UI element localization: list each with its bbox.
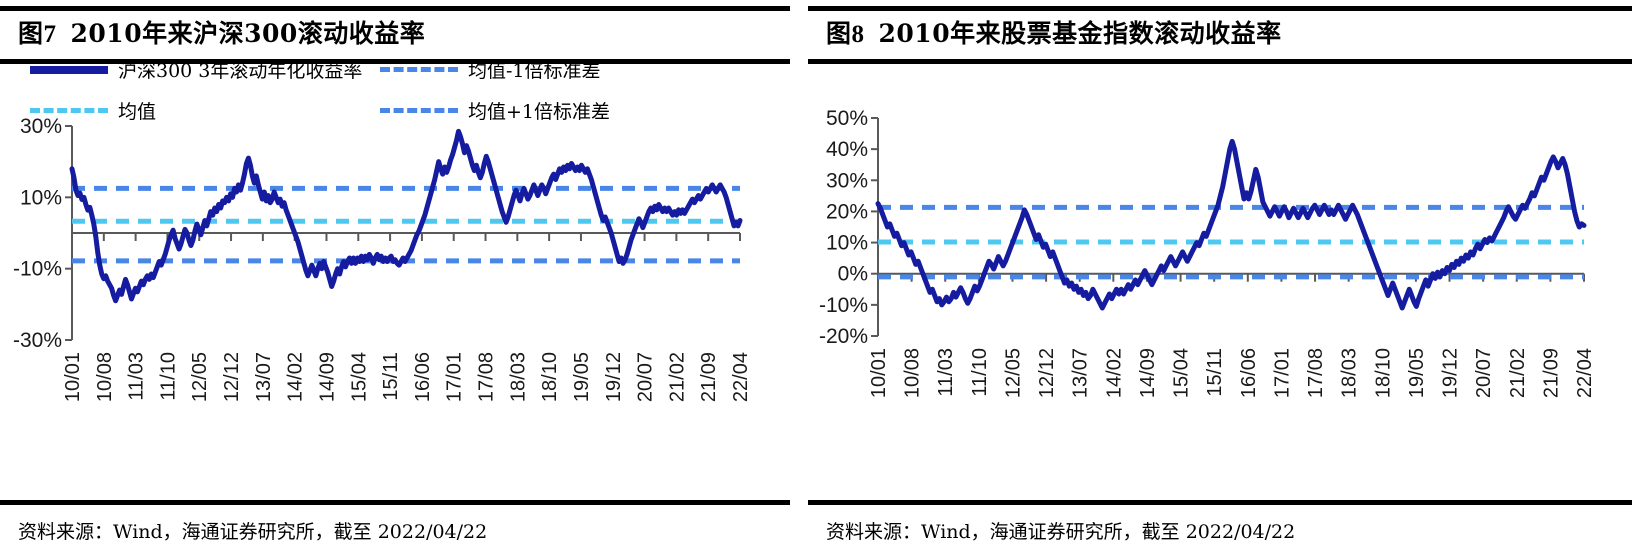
x-axis-tick-label: 12/12 bbox=[221, 352, 243, 402]
chart-svg-7: 30%10%-10%-30%10/0110/0811/0311/1012/051… bbox=[0, 118, 790, 418]
series-line bbox=[878, 141, 1584, 308]
x-axis-tick-label: 15/11 bbox=[1204, 348, 1226, 397]
x-axis-tick-label: 21/09 bbox=[1540, 348, 1562, 398]
y-axis-tick-label: -10% bbox=[819, 294, 868, 317]
figure-panel-7: 图72010年来沪深300滚动收益率 沪深300 3年滚动年化收益率 均值-1倍… bbox=[0, 0, 790, 548]
x-axis-tick-label: 15/11 bbox=[380, 352, 402, 401]
figure-number-7: 图7 bbox=[18, 21, 57, 48]
source-note-7: 资料来源：Wind，海通证券研究所，截至 2022/04/22 bbox=[0, 505, 790, 544]
figure-panel-8: 图82010年来股票基金指数滚动收益率 股票型基金指数3年滚动年化收益率 均值-… bbox=[808, 0, 1632, 548]
legend-swatch-dashed-cyan-line-icon bbox=[30, 108, 108, 113]
figure-title-text-8: 2010年来股票基金指数滚动收益率 bbox=[879, 19, 1282, 48]
x-axis-tick-label: 18/10 bbox=[539, 352, 561, 402]
y-axis-tick-label: 20% bbox=[826, 200, 868, 223]
x-axis-tick-label: 12/12 bbox=[1036, 348, 1058, 398]
chart-plot-8: 50%40%30%20%10%0%-10%-20%10/0110/0811/03… bbox=[808, 110, 1632, 422]
series-line bbox=[72, 131, 740, 300]
x-axis-tick-label: 14/09 bbox=[316, 352, 338, 402]
y-axis-tick-label: 10% bbox=[20, 186, 62, 209]
legend-swatch-solid-line-icon bbox=[30, 66, 108, 74]
figure-title-7: 图72010年来沪深300滚动收益率 bbox=[0, 11, 790, 59]
x-axis-tick-label: 10/01 bbox=[62, 352, 84, 402]
x-axis-tick-label: 17/08 bbox=[476, 352, 498, 402]
x-axis-tick-label: 11/03 bbox=[935, 348, 957, 397]
x-axis-tick-label: 20/07 bbox=[1473, 348, 1495, 398]
y-axis-tick-label: 50% bbox=[826, 110, 868, 130]
x-axis-tick-label: 10/01 bbox=[868, 348, 890, 398]
legend-swatch-dashed-line-icon bbox=[380, 67, 458, 72]
x-axis-tick-label: 14/02 bbox=[1103, 348, 1125, 398]
title-rule-bottom bbox=[808, 59, 1632, 64]
y-axis-tick-label: 30% bbox=[20, 118, 62, 138]
y-axis-tick-label: 30% bbox=[826, 169, 868, 192]
x-axis-tick-label: 21/02 bbox=[1507, 348, 1529, 398]
x-axis-tick-label: 22/04 bbox=[730, 352, 752, 402]
x-axis-tick-label: 11/10 bbox=[969, 348, 991, 397]
x-axis-tick-label: 15/04 bbox=[348, 352, 370, 402]
figure-board: 图72010年来沪深300滚动收益率 沪深300 3年滚动年化收益率 均值-1倍… bbox=[0, 0, 1632, 548]
y-axis-tick-label: 10% bbox=[826, 232, 868, 255]
y-axis-tick-label: 40% bbox=[826, 138, 868, 161]
figure-title-text-7: 2010年来沪深300滚动收益率 bbox=[71, 19, 426, 48]
x-axis-tick-label: 11/03 bbox=[126, 352, 148, 401]
x-axis-tick-label: 17/08 bbox=[1305, 348, 1327, 398]
x-axis-tick-label: 12/05 bbox=[189, 352, 211, 402]
x-axis-tick-label: 21/02 bbox=[666, 352, 688, 402]
source-note-8: 资料来源：Wind，海通证券研究所，截至 2022/04/22 bbox=[808, 505, 1632, 544]
y-axis-tick-label: 0% bbox=[838, 263, 868, 286]
x-axis-tick-label: 14/02 bbox=[285, 352, 307, 402]
x-axis-tick-label: 13/07 bbox=[253, 352, 275, 402]
figure-title-8: 图82010年来股票基金指数滚动收益率 bbox=[808, 11, 1632, 59]
chart-legend-7: 沪深300 3年滚动年化收益率 均值-1倍标准差 均值 均值+1倍标准差 bbox=[30, 56, 710, 124]
footer-7: 资料来源：Wind，海通证券研究所，截至 2022/04/22 bbox=[0, 500, 790, 544]
legend-item-series: 沪深300 3年滚动年化收益率 bbox=[30, 56, 380, 83]
legend-item-minus-sd: 均值-1倍标准差 bbox=[380, 56, 710, 83]
x-axis-tick-label: 20/07 bbox=[635, 352, 657, 402]
figure-number-8: 图8 bbox=[826, 21, 865, 48]
x-axis-tick-label: 18/03 bbox=[1339, 348, 1361, 398]
footer-8: 资料来源：Wind，海通证券研究所，截至 2022/04/22 bbox=[808, 500, 1632, 544]
chart-svg-8: 50%40%30%20%10%0%-10%-20%10/0110/0811/03… bbox=[808, 110, 1632, 422]
legend-swatch-dashed-line-icon bbox=[380, 108, 458, 113]
y-axis-tick-label: -20% bbox=[819, 325, 868, 348]
x-axis-tick-label: 19/12 bbox=[1440, 348, 1462, 398]
x-axis-tick-label: 17/01 bbox=[444, 352, 466, 402]
panel-gap bbox=[790, 0, 808, 548]
chart-plot-7: 30%10%-10%-30%10/0110/0811/0311/1012/051… bbox=[0, 118, 790, 418]
x-axis-tick-label: 19/05 bbox=[1406, 348, 1428, 398]
y-axis-tick-label: -10% bbox=[13, 258, 62, 281]
x-axis-tick-label: 15/04 bbox=[1171, 348, 1193, 398]
legend-label-series: 沪深300 3年滚动年化收益率 bbox=[108, 56, 362, 83]
x-axis-tick-label: 19/05 bbox=[571, 352, 593, 402]
x-axis-tick-label: 18/10 bbox=[1372, 348, 1394, 398]
x-axis-tick-label: 22/04 bbox=[1574, 348, 1596, 398]
x-axis-tick-label: 14/09 bbox=[1137, 348, 1159, 398]
x-axis-tick-label: 10/08 bbox=[902, 348, 924, 398]
x-axis-tick-label: 13/07 bbox=[1070, 348, 1092, 398]
x-axis-tick-label: 12/05 bbox=[1002, 348, 1024, 398]
x-axis-tick-label: 11/10 bbox=[157, 352, 179, 401]
legend-label-minus-sd: 均值-1倍标准差 bbox=[458, 56, 601, 83]
x-axis-tick-label: 17/01 bbox=[1271, 348, 1293, 398]
x-axis-tick-label: 10/08 bbox=[94, 352, 116, 402]
x-axis-tick-label: 18/03 bbox=[507, 352, 529, 402]
x-axis-tick-label: 16/06 bbox=[1238, 348, 1260, 398]
x-axis-tick-label: 19/12 bbox=[603, 352, 625, 402]
x-axis-tick-label: 16/06 bbox=[412, 352, 434, 402]
y-axis-tick-label: -30% bbox=[13, 329, 62, 352]
x-axis-tick-label: 21/09 bbox=[698, 352, 720, 402]
